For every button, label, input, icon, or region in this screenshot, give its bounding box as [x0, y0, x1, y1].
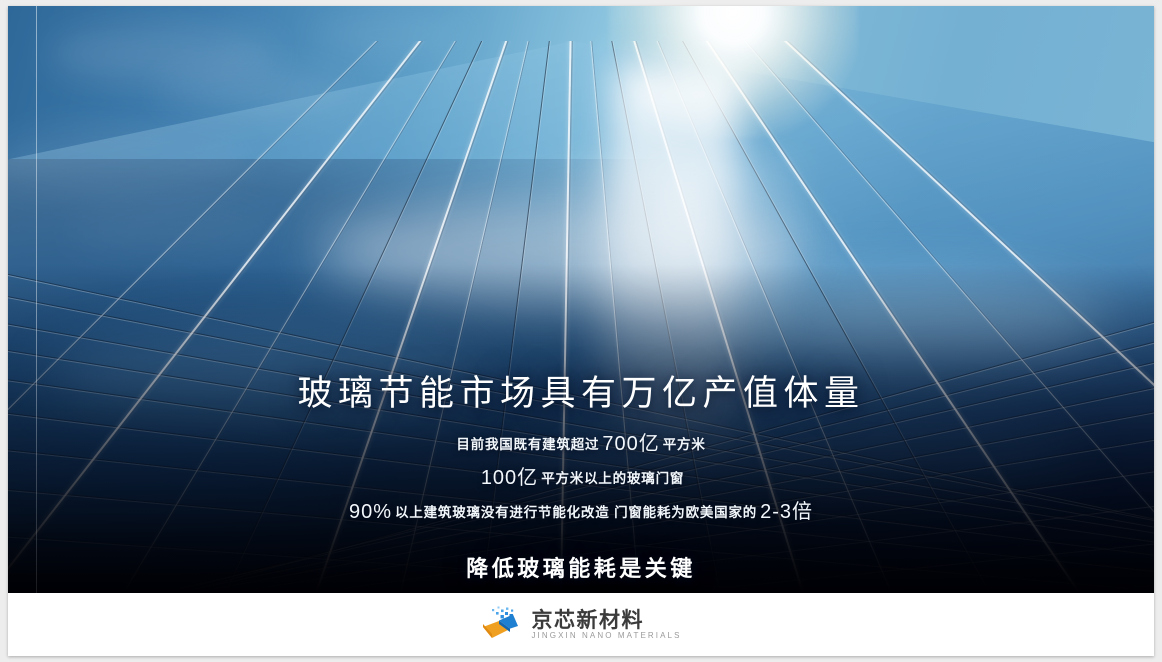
subtitle-line-1-pre: 目前我国既有建筑超过 [456, 437, 599, 452]
slide-canvas: 玻璃节能市场具有万亿产值体量 目前我国既有建筑超过700亿平方米 100亿平方米… [8, 6, 1154, 656]
subtitle-block: 目前我国既有建筑超过700亿平方米 100亿平方米以上的玻璃门窗 90%以上建筑… [8, 428, 1154, 529]
pixel-arrow-book-logo-icon [480, 606, 520, 643]
footer-bar: 京芯新材料 JINGXIN NANO MATERIALS [8, 593, 1154, 656]
subtitle-line-3-post: 以上建筑玻璃没有进行节能化改造 门窗能耗为欧美国家的 [395, 505, 757, 520]
logo-text-block: 京芯新材料 JINGXIN NANO MATERIALS [531, 610, 681, 640]
subtitle-line-3-number2: 2-3倍 [757, 501, 816, 523]
logo-name-en: JINGXIN NANO MATERIALS [531, 632, 681, 640]
hero-photo-glass-building: 玻璃节能市场具有万亿产值体量 目前我国既有建筑超过700亿平方米 100亿平方米… [8, 6, 1154, 593]
subtitle-line-3-number: 90% [346, 501, 395, 523]
subtitle-line-3: 90%以上建筑玻璃没有进行节能化改造 门窗能耗为欧美国家的2-3倍 [8, 496, 1154, 528]
logo-name-cn: 京芯新材料 [531, 610, 681, 631]
subtitle-line-1-post: 平方米 [663, 437, 706, 452]
subtitle-line-2-post: 平方米以上的玻璃门窗 [541, 471, 684, 486]
company-logo: 京芯新材料 JINGXIN NANO MATERIALS [480, 606, 681, 643]
subtitle-line-1: 目前我国既有建筑超过700亿平方米 [8, 428, 1154, 460]
subtitle-line-2: 100亿平方米以上的玻璃门窗 [8, 462, 1154, 494]
subtitle-line-2-number: 100亿 [478, 467, 541, 489]
page-title: 玻璃节能市场具有万亿产值体量 [8, 374, 1154, 415]
kicker-statement: 降低玻璃能耗是关键 [8, 551, 1154, 583]
subtitle-line-1-number: 700亿 [599, 433, 662, 455]
hero-copy-block: 玻璃节能市场具有万亿产值体量 目前我国既有建筑超过700亿平方米 100亿平方米… [8, 374, 1154, 583]
